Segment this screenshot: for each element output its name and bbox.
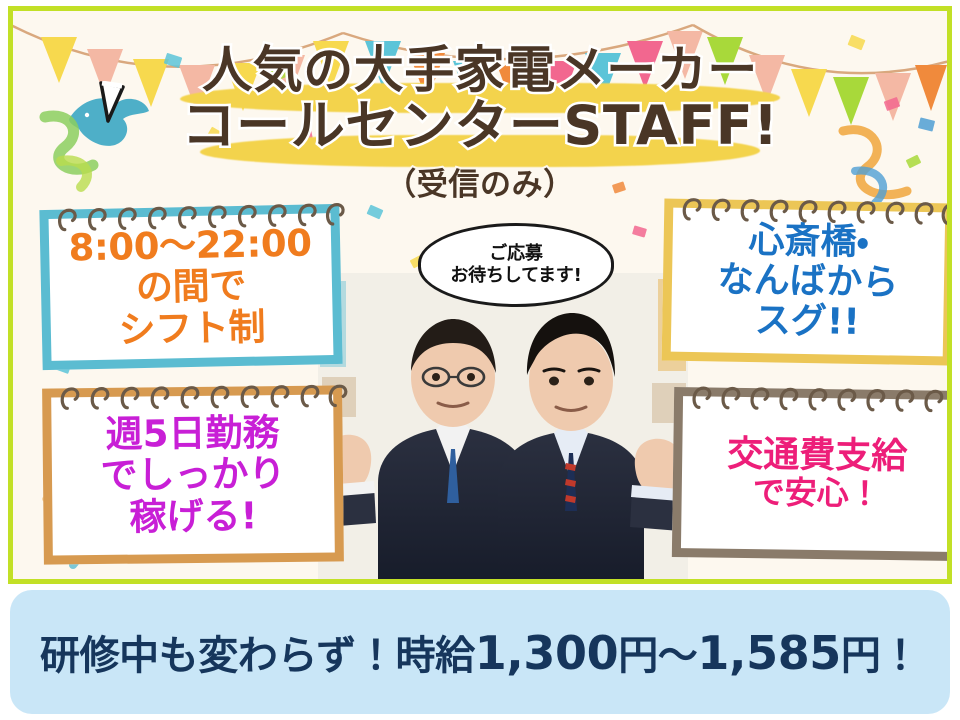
memo-card-transport: 交通費支給 で安心！ bbox=[672, 387, 947, 561]
spiral-binding-icon bbox=[683, 383, 947, 413]
headline-line2: コールセンターSTAFF! bbox=[182, 94, 779, 157]
headline-line1: 人気の大手家電メーカー bbox=[202, 41, 758, 99]
speech-bubble-text: ご応募 お待ちしてます! bbox=[450, 243, 581, 288]
spiral-binding-icon bbox=[51, 381, 351, 410]
memo-weekly-days-line3: 稼げる! bbox=[101, 495, 286, 538]
wage-prefix: 研修中も変わらず！時給 bbox=[40, 633, 475, 679]
memo-location-line2: なんばから bbox=[717, 260, 898, 303]
wage-high: 1,585 bbox=[697, 626, 841, 680]
wage-yen-mid: 円〜 bbox=[618, 633, 697, 679]
wage-banner: 研修中も変わらず！時給1,300円〜1,585円！ bbox=[10, 590, 950, 714]
memo-shift-hours-line2: の間で bbox=[69, 264, 313, 311]
poster-background: 人気の大手家電メーカー コールセンターSTAFF! （受信のみ） bbox=[13, 11, 947, 579]
confetti bbox=[632, 225, 647, 237]
headline-subline: （受信のみ） bbox=[13, 159, 947, 204]
memo-shift-hours-line1: 8:00〜22:00 bbox=[68, 222, 312, 269]
memo-weekly-days-text: 週5日勤務 でしっかり 稼げる! bbox=[100, 412, 286, 538]
wage-yen-end: 円！ bbox=[841, 633, 920, 679]
poster-frame: 人気の大手家電メーカー コールセンターSTAFF! （受信のみ） bbox=[8, 6, 952, 584]
memo-location-line1: 心斎橋・ bbox=[718, 220, 899, 263]
confetti bbox=[367, 205, 384, 220]
wage-low: 1,300 bbox=[475, 626, 619, 680]
memo-weekly-days-line1: 週5日勤務 bbox=[100, 412, 285, 455]
wage-banner-text: 研修中も変わらず！時給1,300円〜1,585円！ bbox=[40, 623, 920, 681]
memo-card-weekly-days: 週5日勤務 でしっかり 稼げる! bbox=[42, 385, 344, 564]
memo-location-text: 心斎橋・ なんばから スグ!! bbox=[717, 220, 900, 344]
speech-bubble-line1: ご応募 bbox=[450, 243, 581, 266]
memo-weekly-days-line2: でしっかり bbox=[100, 453, 285, 496]
memo-transport-line1: 交通費支給 bbox=[727, 435, 908, 478]
headline-line2-row: コールセンターSTAFF! bbox=[13, 99, 947, 153]
memo-card-location: 心斎橋・ なんばから スグ!! bbox=[662, 198, 947, 365]
ad-banner: 人気の大手家電メーカー コールセンターSTAFF! （受信のみ） bbox=[0, 0, 960, 720]
headline-line1-row: 人気の大手家電メーカー bbox=[13, 45, 947, 95]
memo-transport-text: 交通費支給 で安心！ bbox=[726, 435, 907, 514]
memo-location-line3: スグ!! bbox=[717, 301, 898, 344]
memo-shift-hours-text: 8:00〜22:00 の間で シフト制 bbox=[68, 222, 314, 351]
speech-bubble-line2: お待ちしてます! bbox=[450, 265, 581, 288]
speech-bubble: ご応募 お待ちしてます! bbox=[418, 223, 614, 307]
memo-card-shift-hours: 8:00〜22:00 の間で シフト制 bbox=[39, 204, 342, 370]
staff-photo bbox=[318, 273, 688, 579]
speech-bubble-tail bbox=[99, 81, 125, 123]
memo-transport-line2: で安心！ bbox=[726, 475, 906, 513]
memo-shift-hours-line3: シフト制 bbox=[70, 305, 314, 352]
headline-block: 人気の大手家電メーカー コールセンターSTAFF! （受信のみ） bbox=[13, 45, 947, 204]
